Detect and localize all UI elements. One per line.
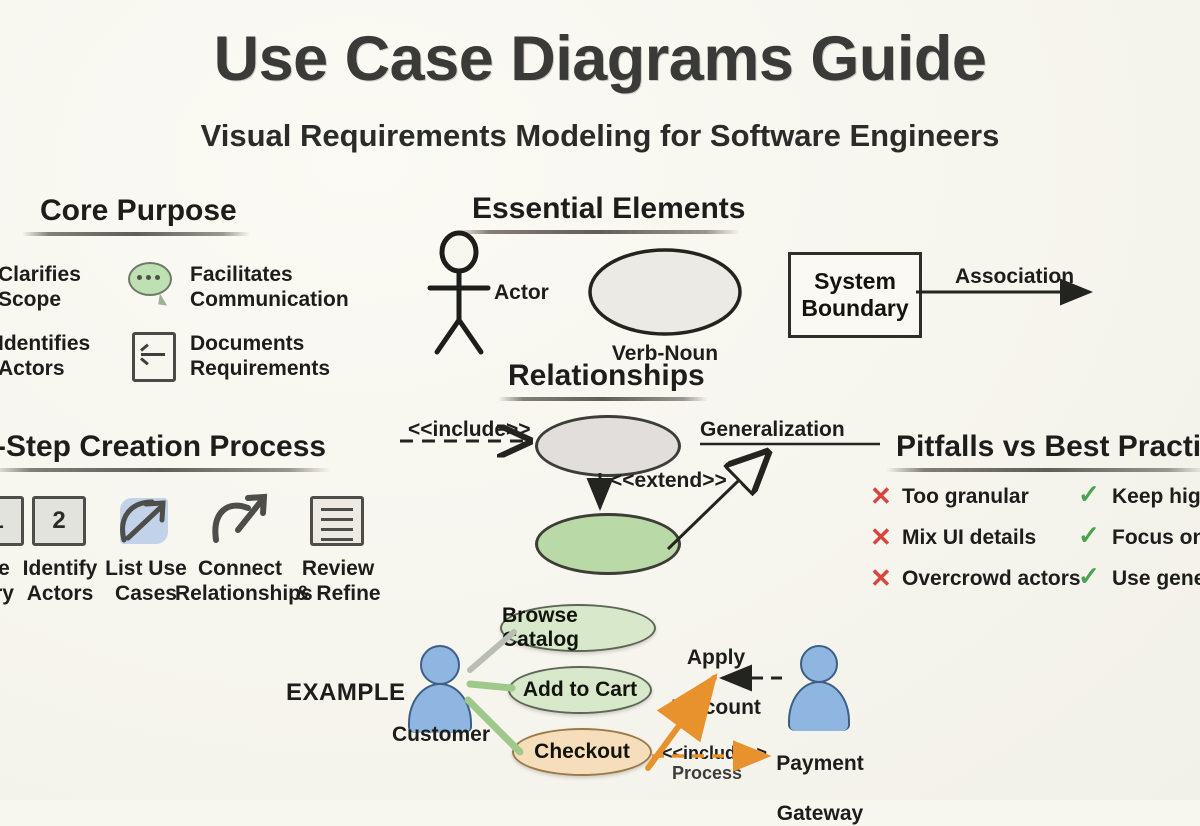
check-mark-icon: ✓ [1078, 522, 1100, 548]
pitfall-1-label: Mix UI details [902, 525, 1036, 550]
assoc-add-to-cart [470, 684, 512, 688]
core-purpose-item-2-label: Identifies Actors [0, 331, 118, 381]
system-boundary-line1: System [814, 268, 896, 295]
section-heading-process: -Step Creation Process [0, 432, 326, 462]
pitfall-0-label: Too granular [902, 484, 1029, 509]
check-mark-icon: ✓ [1078, 481, 1100, 507]
include-stereotype-label: <<include>> [408, 417, 531, 442]
example-include-label: <<include>> [662, 742, 767, 764]
document-lines-shape [310, 496, 364, 546]
customer-actor-label: Customer [386, 722, 496, 747]
arrow-badge-shape [120, 498, 168, 544]
step-1-label: Identify Actors [15, 556, 105, 606]
relationships-underline [498, 397, 708, 401]
actor-label: Actor [494, 280, 549, 305]
apply-discount-line1: Apply [687, 646, 745, 669]
check-mark-icon: ✓ [1078, 563, 1100, 589]
generalization-arrow [668, 452, 768, 549]
use-case-add-to-cart: Add to Cart [508, 666, 652, 714]
process-underline [0, 468, 330, 472]
essential-elements-underline [455, 230, 740, 234]
step-0-number: 1 [0, 496, 24, 546]
pitfall-2-label: Overcrowd actors [902, 566, 1081, 591]
core-purpose-item-1-label: Facilitates Communication [190, 262, 350, 312]
extend-stereotype-label: <<extend>> [610, 468, 727, 493]
best-practice-2-label: Use gener [1112, 566, 1200, 591]
core-purpose-item-3-label: Documents Requirements [190, 331, 360, 381]
payment-gateway-line1: Payment [776, 752, 864, 775]
x-mark-icon: ✕ [870, 565, 892, 591]
use-case-shape-label: Use Case: Verb-Noun [598, 266, 732, 366]
use-case-browse-catalog: Browse Catalog [500, 604, 656, 652]
pitfalls-underline [886, 468, 1200, 472]
speech-bubble-icon [128, 262, 172, 296]
payment-gateway-line2: Gateway [777, 802, 863, 825]
system-boundary-line2: Boundary [801, 295, 908, 322]
example-process-label: Process [672, 762, 742, 784]
apply-discount-line2: Discount [671, 696, 761, 719]
payment-gateway-actor-label: Payment Gateway [760, 726, 880, 826]
x-mark-icon: ✕ [870, 483, 892, 509]
example-label: EXAMPLE [286, 680, 406, 705]
use-case-checkout: Checkout [512, 728, 652, 776]
step-0-icon-boundary-icon: 1 [0, 496, 24, 546]
best-practice-0-label: Keep high [1112, 484, 1200, 509]
relationship-derived-use-case [535, 513, 681, 575]
infographic-stage: Use Case Diagrams Guide Visual Requireme… [0, 0, 1200, 800]
section-heading-core-purpose: Core Purpose [40, 196, 237, 226]
use-case-line1: Use Case: [614, 292, 716, 315]
best-practice-1-label: Focus on f [1112, 525, 1200, 550]
avatar-payment-gateway [788, 645, 850, 731]
section-heading-pitfalls: Pitfalls vs Best Practi [896, 432, 1200, 462]
section-heading-essential-elements: Essential Elements [472, 194, 745, 224]
core-purpose-underline [22, 232, 250, 236]
step-3-icon-curved-arrow-icon [208, 496, 262, 546]
step-1-number: 2 [32, 496, 86, 546]
step-4-icon-document-lines-icon [310, 496, 364, 546]
association-label: Association [955, 264, 1074, 289]
core-purpose-item-0-label: Clarifies Scope [0, 262, 118, 312]
step-4-label: Review & Refine [290, 556, 386, 606]
step-2-icon-arrow-badge-icon [118, 496, 172, 546]
avatar-customer [406, 645, 472, 731]
step-3-label: Connect Relationships [175, 556, 305, 606]
x-mark-icon: ✕ [870, 524, 892, 550]
system-boundary-shape: System Boundary [788, 252, 922, 338]
generalization-label: Generalization [700, 417, 845, 442]
page-subtitle: Visual Requirements Modeling for Softwar… [0, 120, 1200, 151]
stick-figure-actor [430, 233, 488, 352]
section-heading-relationships: Relationships [508, 361, 705, 391]
step-1-icon-numbered-box-icon: 2 [32, 496, 86, 546]
document-arrow-icon [132, 332, 176, 382]
use-case-apply-discount-label: Apply Discount [664, 620, 768, 720]
page-title: Use Case Diagrams Guide [0, 28, 1200, 91]
